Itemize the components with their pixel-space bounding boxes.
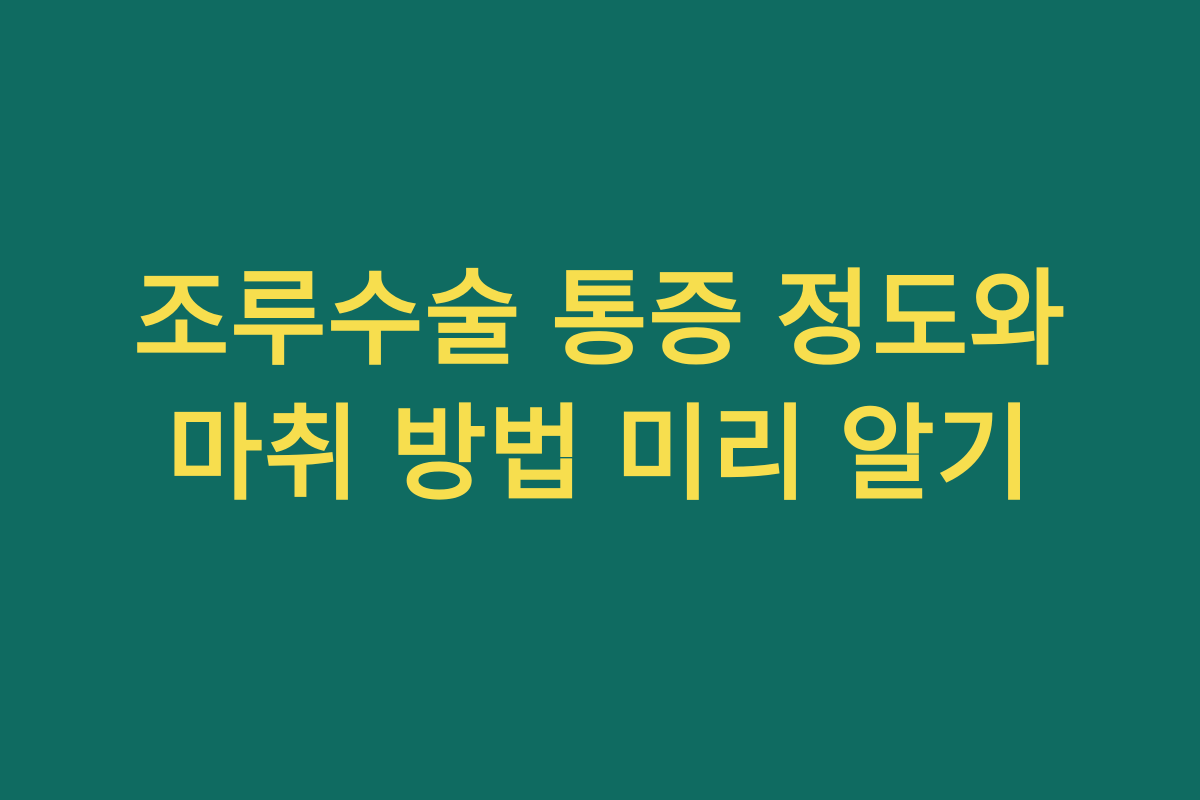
thumbnail-card: 조루수술 통증 정도와 마취 방법 미리 알기 [0, 0, 1200, 800]
title-block: 조루수술 통증 정도와 마취 방법 미리 알기 [0, 253, 1200, 523]
title-line-2: 마취 방법 미리 알기 [40, 388, 1160, 523]
title-line-1: 조루수술 통증 정도와 [40, 253, 1160, 388]
